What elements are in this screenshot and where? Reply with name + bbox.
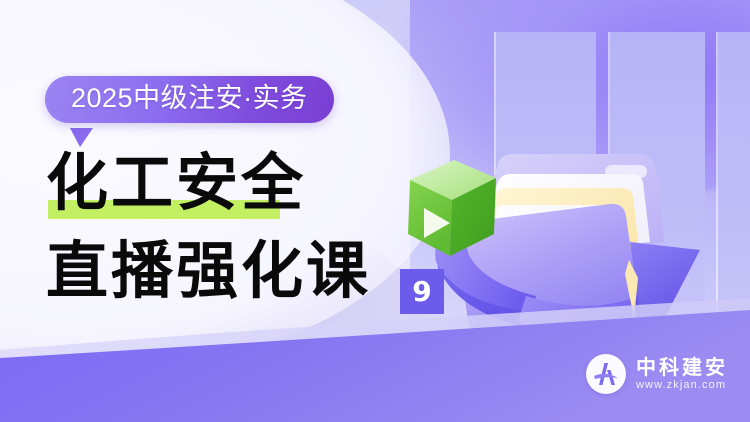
episode-number-text: 9 [412,278,431,306]
title-line-1-text: 化工安全 [46,146,306,219]
logo-mark-icon [586,354,626,394]
course-banner: 2025中级注安·实务 化工安全 直播强化课 9 中科建安 www.zkjan.… [0,0,750,422]
logo-text-block: 中科建安 www.zkjan.com [636,357,728,391]
brand-logo: 中科建安 www.zkjan.com [586,354,728,394]
logo-website-url: www.zkjan.com [636,380,728,391]
episode-number-badge: 9 [400,269,444,314]
badge-tail [70,128,93,147]
title-line-1: 化工安全 [46,152,371,214]
title-line-2: 直播强化课 [46,240,371,302]
course-category-badge: 2025中级注安·实务 [45,76,334,123]
title-line-2-text: 直播强化课 [46,234,371,307]
course-category-label: 2025中级注安·实务 [71,85,308,112]
logo-company-name: 中科建安 [636,357,728,377]
course-title: 化工安全 直播强化课 [46,152,371,302]
